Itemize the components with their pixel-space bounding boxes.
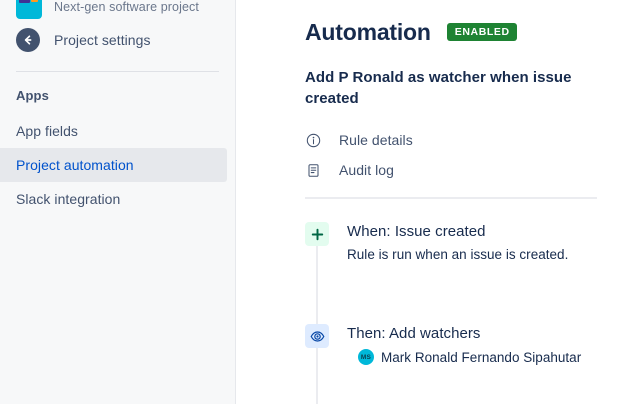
audit-log-link[interactable]: Audit log (305, 155, 597, 185)
sidebar-item-slack-integration[interactable]: Slack integration (0, 182, 227, 216)
info-circle-icon (305, 132, 321, 148)
sidebar-item-app-fields[interactable]: App fields (0, 114, 227, 148)
rule-details-link[interactable]: Rule details (305, 125, 597, 155)
back-to-project-settings[interactable]: Project settings (0, 20, 235, 60)
eye-icon (305, 324, 329, 348)
back-nav-label: Project settings (54, 32, 151, 48)
flow-step-trigger[interactable]: When: Issue created Rule is run when an … (305, 221, 597, 265)
project-tile-icon (16, 0, 42, 19)
sidebar-menu: App fields Project automation Slack inte… (0, 114, 235, 216)
rule-links: Rule details Audit log (305, 125, 597, 185)
status-badge: ENABLED (447, 23, 517, 41)
plus-icon (305, 222, 329, 246)
audit-log-label: Audit log (339, 162, 394, 178)
rule-details-label: Rule details (339, 132, 413, 148)
sidebar-section-title-apps: Apps (0, 88, 235, 103)
project-settings-sidebar: Next-gen software project Project settin… (0, 0, 236, 404)
rule-flow: When: Issue created Rule is run when an … (305, 221, 597, 365)
arrow-left-icon (16, 28, 40, 52)
avatar: MS (358, 349, 374, 365)
action-title: Then: Add watchers (347, 323, 581, 345)
page-title: Automation (305, 18, 431, 46)
trigger-description: Rule is run when an issue is created. (347, 245, 568, 265)
app-root: Next-gen software project Project settin… (0, 0, 627, 404)
rule-name-heading: Add P Ronald as watcher when issue creat… (305, 67, 595, 109)
audit-log-icon (305, 162, 321, 178)
trigger-title: When: Issue created (347, 221, 568, 243)
flow-step-action[interactable]: Then: Add watchers MS Mark Ronald Fernan… (305, 323, 597, 365)
sidebar-item-project-automation[interactable]: Project automation (0, 148, 227, 182)
sidebar-divider (16, 71, 219, 72)
page-header: Automation ENABLED (305, 16, 597, 48)
watcher-name-label: Mark Ronald Fernando Sipahutar (381, 350, 581, 365)
project-name-label: Next-gen software project (54, 0, 199, 14)
project-header[interactable]: Next-gen software project (0, 0, 235, 20)
content-divider (305, 197, 597, 199)
watcher-list-item[interactable]: MS Mark Ronald Fernando Sipahutar (347, 349, 581, 365)
automation-main-panel: Automation ENABLED Add P Ronald as watch… (236, 0, 627, 404)
